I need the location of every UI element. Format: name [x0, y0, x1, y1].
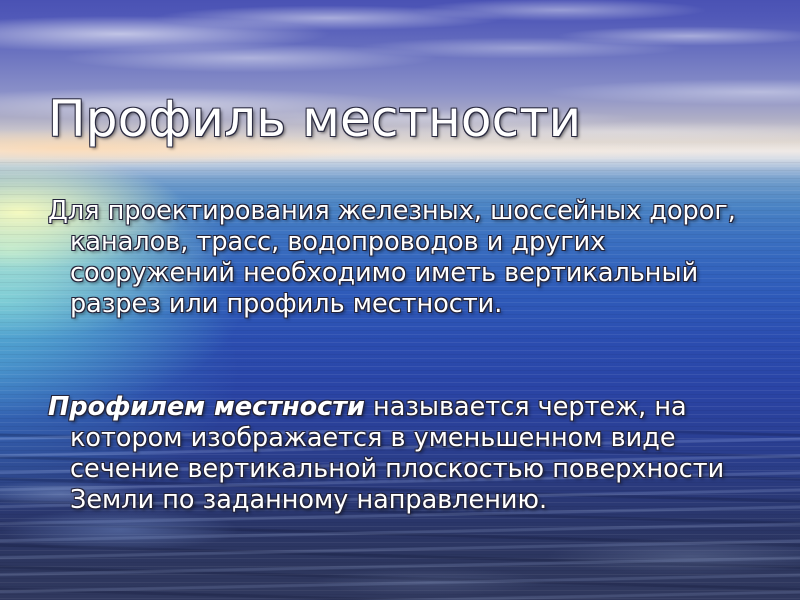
slide-title: Профиль местности — [48, 90, 748, 148]
term-emphasis: Профилем местности — [48, 392, 365, 422]
slide-content: Профиль местности Для проектирования жел… — [0, 0, 800, 600]
presentation-slide: Профиль местности Для проектирования жел… — [0, 0, 800, 600]
body-paragraph-2: Профилем местности называется чертеж, на… — [48, 392, 738, 516]
body-paragraph-1: Для проектирования железных, шоссейных д… — [48, 196, 738, 320]
